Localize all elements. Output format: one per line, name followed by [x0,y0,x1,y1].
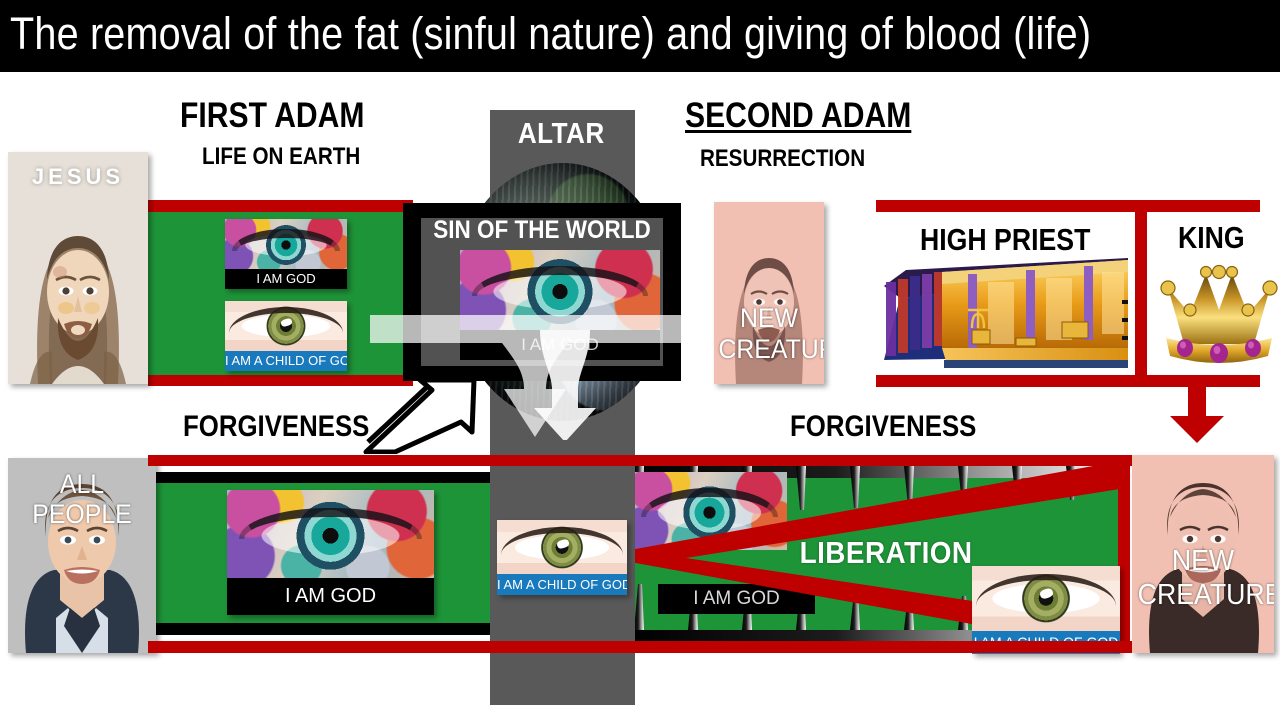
diagonal-up-right-arrow-icon [362,378,480,454]
new-creature-bottom-line1: NEW [1138,547,1269,576]
portrait-all-people: ALL PEOPLE [8,458,156,653]
natural-eye-image-altar [497,520,627,575]
heading-forgiveness-left: FORGIVENESS [183,410,369,444]
red-down-arrow-icon [1168,382,1226,444]
rainbow-eye-image [225,219,347,269]
heading-resurrection: RESURRECTION [700,145,865,173]
right-frame-divider [1135,200,1147,387]
eye-card-child-of-god-altar: I AM A CHILD OF GOD [497,520,627,595]
eye-card-i-am-god-bottom: I AM GOD [227,490,434,615]
bottom-red-rail-bottom [148,641,1148,653]
eye-card-i-am-god-top: I AM GOD [225,219,347,289]
sin-of-the-world-label: SIN OF THE WORLD [417,216,667,245]
liberation-label: LIBERATION [800,535,973,571]
natural-eye-image [225,301,347,351]
eye-glint-icon-right [1039,588,1054,601]
slide-canvas: The removal of the fat (sinful nature) a… [0,0,1280,720]
natural-eye-image-right [972,566,1120,631]
new-creature-top-line2: CREATURE [718,335,819,364]
bottom-red-rail-top [148,455,1148,466]
eye-label-i-am-god-bottom: I AM GOD [227,578,434,615]
eye-glint-icon-altar [556,538,569,549]
eye-card-child-of-god-top: I AM A CHILD OF GOD [225,301,347,371]
tabernacle-icon [876,252,1128,376]
portrait-new-creature-top: NEW CREATURE [714,202,824,384]
page-title: The removal of the fat (sinful nature) a… [10,2,1091,66]
funnel-stem-arrow-icon [478,330,653,445]
jesus-label: JESUS [8,164,148,190]
eye-label-i-am-god: I AM GOD [225,269,347,289]
heading-life-on-earth: LIFE ON EARTH [202,143,360,171]
rainbow-eye-image-bottom [227,490,434,578]
eye-glint-icon [280,317,293,327]
all-people-line2: PEOPLE [14,500,150,529]
new-creature-top-line1: NEW [718,304,819,333]
all-people-line1: ALL [14,470,150,499]
altar-label: ALTAR [518,118,605,151]
portrait-jesus: JESUS [8,152,148,384]
eye-label-child-of-god: I AM A CHILD OF GOD [225,351,347,371]
heading-second-adam: SECOND ADAM [685,96,911,136]
heading-forgiveness-right: FORGIVENESS [790,410,976,444]
top-left-band-red-top [148,200,413,212]
right-frame-top-bar [876,200,1260,212]
crown-icon [1160,248,1278,376]
eye-label-child-of-god-altar: I AM A CHILD OF GOD [497,574,627,595]
heading-first-adam: FIRST ADAM [180,96,364,136]
portrait-new-creature-bottom: NEW CREATURE [1132,455,1274,653]
new-creature-bottom-line2: CREATURE [1138,581,1269,610]
title-bar: The removal of the fat (sinful nature) a… [0,0,1280,72]
